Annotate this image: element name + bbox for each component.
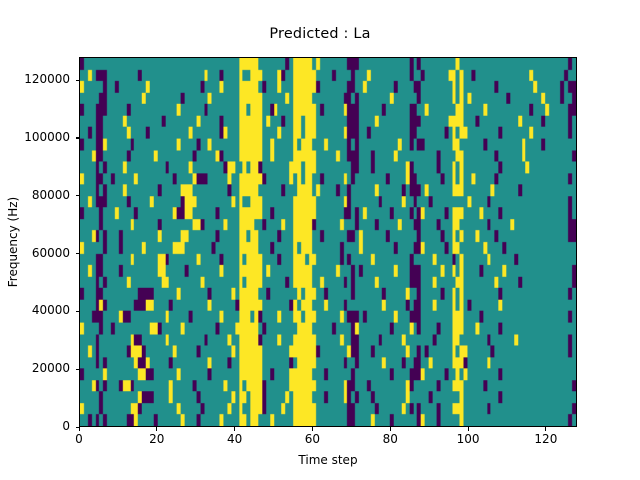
matplotlib-figure: Predicted : La 0200004000060000800001000… [0,0,640,480]
x-tick-mark [234,427,235,431]
y-tick-label-text: 80000 [32,188,70,202]
y-tick-mark [76,195,80,196]
y-tick-mark [76,253,80,254]
y-tick-label-text: 20000 [32,361,70,375]
chart-title: Predicted : La [0,26,640,42]
x-tick-label: 80 [383,432,398,446]
y-tick-mark [76,311,80,312]
x-tick-mark [545,427,546,431]
x-tick-mark [79,427,80,431]
y-tick-mark [76,369,80,370]
x-tick-mark [156,427,157,431]
y-tick-mark [76,80,80,81]
x-tick-mark [390,427,391,431]
x-axis-label: Time step [79,453,577,467]
heatmap-image [80,58,576,426]
x-tick-label: 0 [75,432,83,446]
y-tick-label-text: 100000 [24,130,70,144]
x-tick-label: 40 [227,432,242,446]
y-tick-label-text: 0 [62,419,70,433]
x-tick-mark [312,427,313,431]
y-axis-label: Frequency (Hz) [6,142,20,342]
x-tick-label: 20 [149,432,164,446]
x-tick-label: 100 [457,432,480,446]
x-tick-label: 120 [534,432,557,446]
heatmap-axes [79,57,577,427]
x-tick-mark [468,427,469,431]
y-tick-mark [76,137,80,138]
y-tick-label-text: 120000 [24,72,70,86]
x-tick-label: 60 [305,432,320,446]
y-tick-label-text: 40000 [32,303,70,317]
y-tick-label-text: 60000 [32,246,70,260]
